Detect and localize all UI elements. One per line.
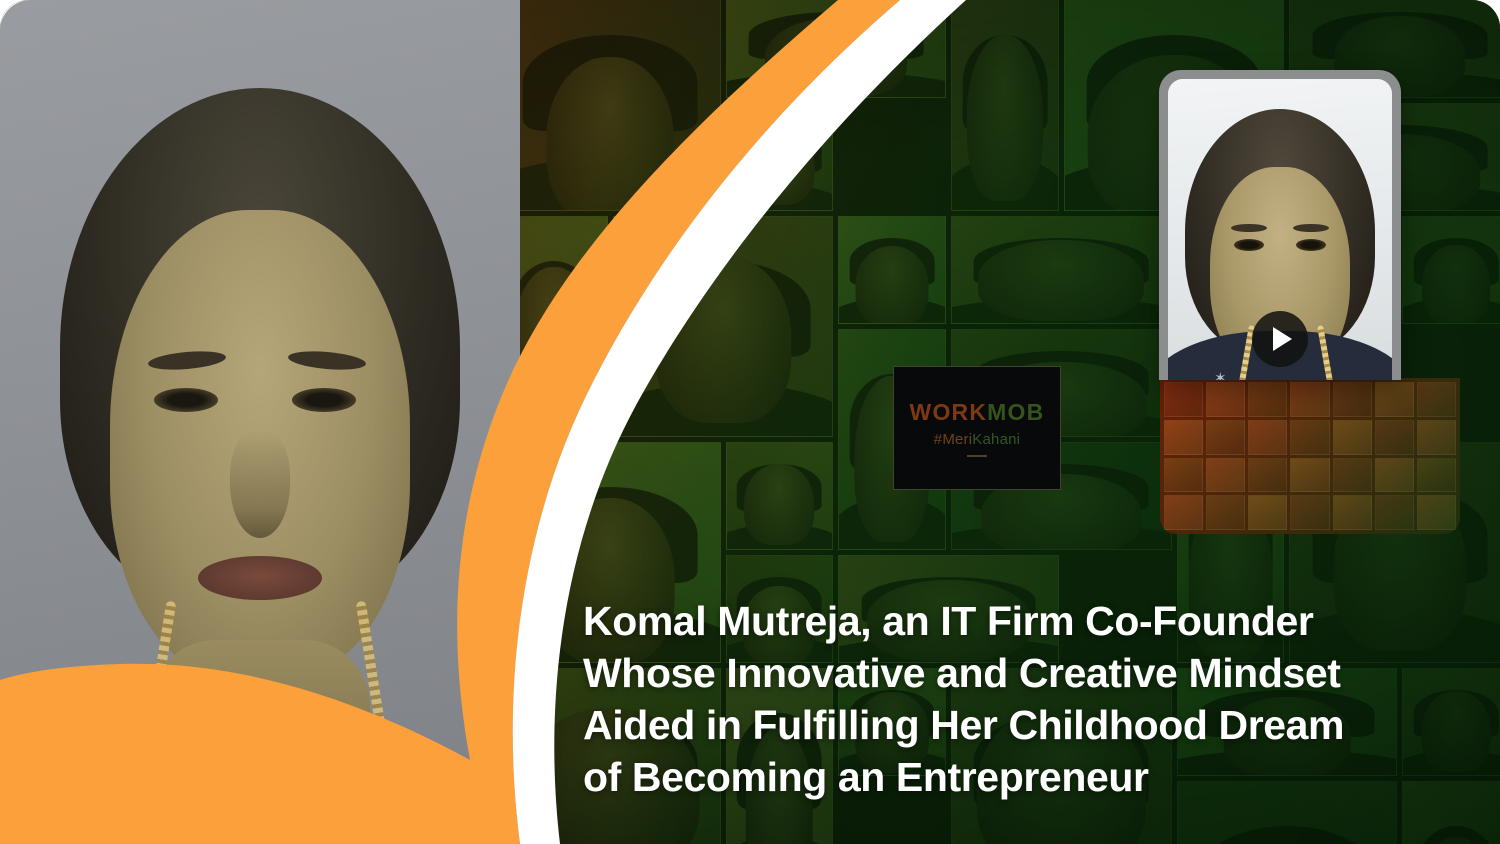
headline-line-4: of Becoming an Entrepreneur [583, 751, 1463, 803]
portrait-lips [198, 556, 322, 600]
video-player-screen[interactable]: ✶ [1168, 79, 1392, 380]
headline-line-3: Aided in Fulfilling Her Childhood Dream [583, 699, 1463, 751]
workmob-word-part2: MOB [987, 399, 1044, 425]
logo-divider [967, 455, 987, 457]
video-subject-eye-right [1296, 239, 1326, 251]
portrait-eye-right [292, 388, 356, 412]
workmob-word-part1: WORK [910, 399, 988, 425]
portrait-nose [230, 430, 290, 538]
video-subject-brow-left [1231, 224, 1267, 232]
workmob-logo-tile: WORKMOB #MeriKahani [893, 366, 1061, 490]
headline-line-2: Whose Innovative and Creative Mindset [583, 647, 1463, 699]
monitor-wall-tint [1160, 378, 1460, 534]
portrait-eye-left [154, 388, 218, 412]
headline-line-1: Komal Mutreja, an IT Firm Co-Founder [583, 595, 1463, 647]
video-subject-star-motif: ✶ [1214, 369, 1227, 380]
video-subject-eye-left [1234, 239, 1264, 251]
hashtag-part1: #Meri [934, 431, 973, 448]
story-card: WORKMOB #MeriKahani [0, 0, 1500, 844]
merikahani-hashtag: #MeriKahani [934, 431, 1020, 448]
speaker-portrait [0, 0, 520, 844]
video-subject-brow-right [1293, 224, 1329, 232]
video-player-card[interactable]: ✶ [1159, 70, 1401, 380]
workmob-wordmark: WORKMOB [910, 399, 1045, 426]
headline: Komal Mutreja, an IT Firm Co-Founder Who… [583, 595, 1463, 803]
hashtag-part2: Kahani [972, 431, 1020, 448]
play-button-icon[interactable] [1252, 311, 1308, 367]
play-triangle-icon [1273, 327, 1292, 351]
